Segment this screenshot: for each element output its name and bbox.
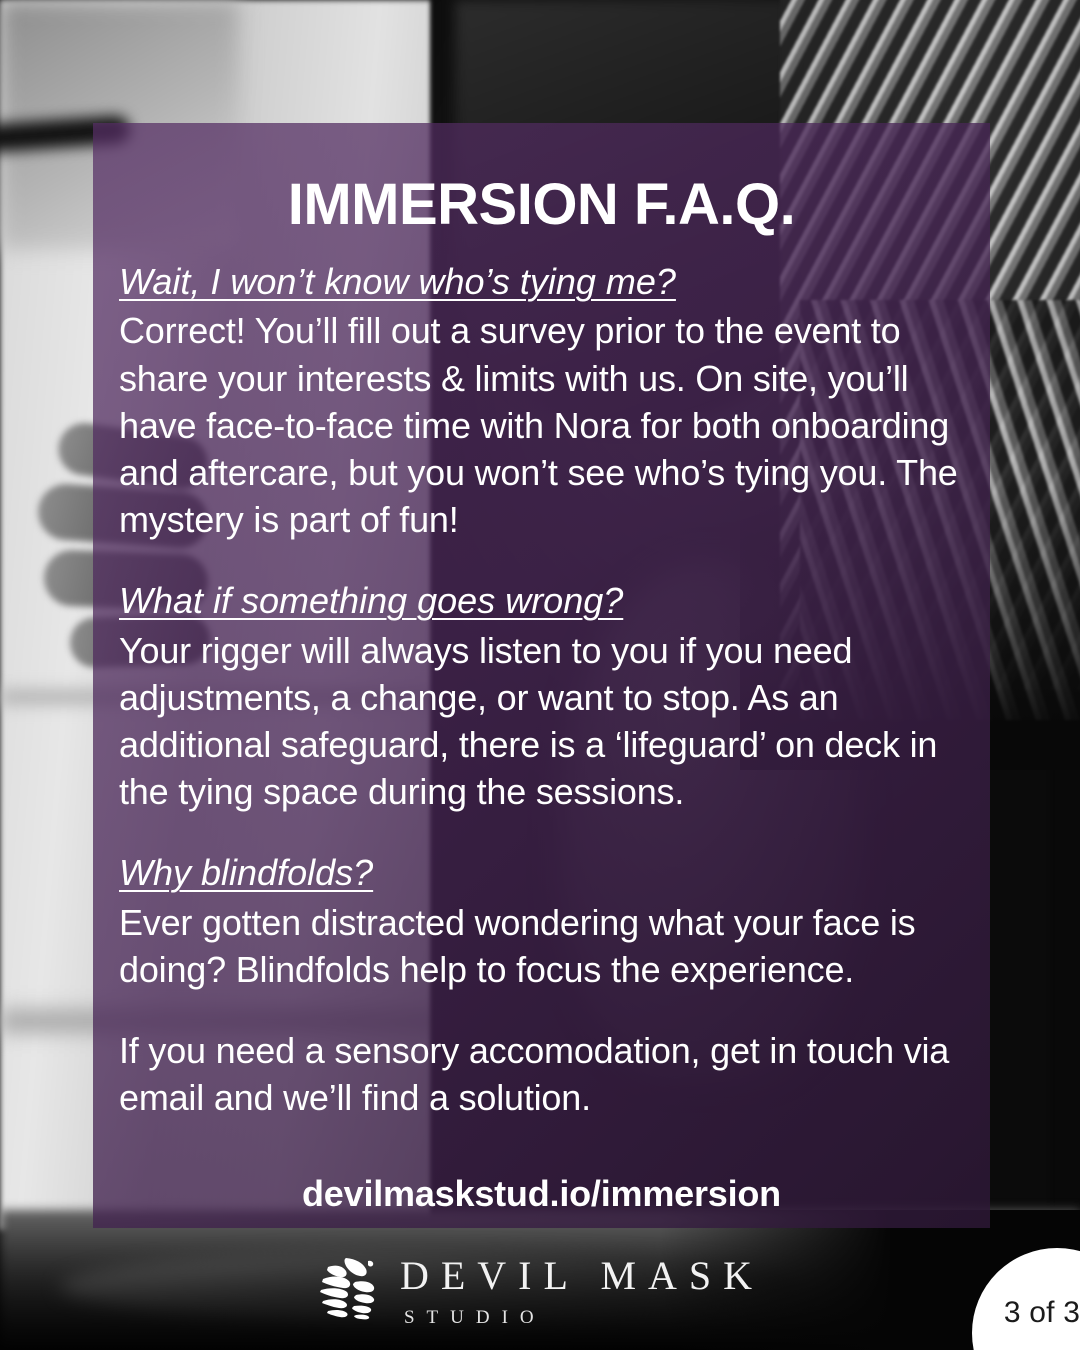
- page-title: IMMERSION F.A.Q.: [119, 123, 964, 236]
- post-canvas: IMMERSION F.A.Q. Wait, I won’t know who’…: [0, 0, 1080, 1350]
- devil-mask-brushstroke-icon: [316, 1257, 378, 1325]
- footer: DEVIL MASK STUDIO: [0, 1228, 1080, 1350]
- brand-subtitle: STUDIO: [404, 1308, 764, 1327]
- faq-item: Wait, I won’t know who’s tying me? Corre…: [119, 258, 964, 543]
- faq-question: Why blindfolds?: [119, 849, 373, 897]
- brand-wordmark: DEVIL MASK STUDIO: [400, 1256, 764, 1327]
- page-counter-label: 3 of 3: [988, 1296, 1080, 1330]
- faq-item: Why blindfolds? Ever gotten distracted w…: [119, 849, 964, 993]
- faq-item: What if something goes wrong? Your rigge…: [119, 577, 964, 815]
- brand-logo: DEVIL MASK STUDIO: [316, 1256, 764, 1327]
- faq-question: Wait, I won’t know who’s tying me?: [119, 258, 676, 306]
- accommodation-note: If you need a sensory accomodation, get …: [119, 1027, 964, 1121]
- website-url[interactable]: devilmaskstud.io/immersion: [119, 1173, 964, 1215]
- brand-name: DEVIL MASK: [400, 1256, 764, 1296]
- faq-answer: Correct! You’ll fill out a survey prior …: [119, 307, 964, 543]
- faq-answer: Your rigger will always listen to you if…: [119, 627, 964, 816]
- faq-answer: Ever gotten distracted wondering what yo…: [119, 899, 964, 993]
- faq-question: What if something goes wrong?: [119, 577, 623, 625]
- faq-panel: IMMERSION F.A.Q. Wait, I won’t know who’…: [93, 123, 990, 1228]
